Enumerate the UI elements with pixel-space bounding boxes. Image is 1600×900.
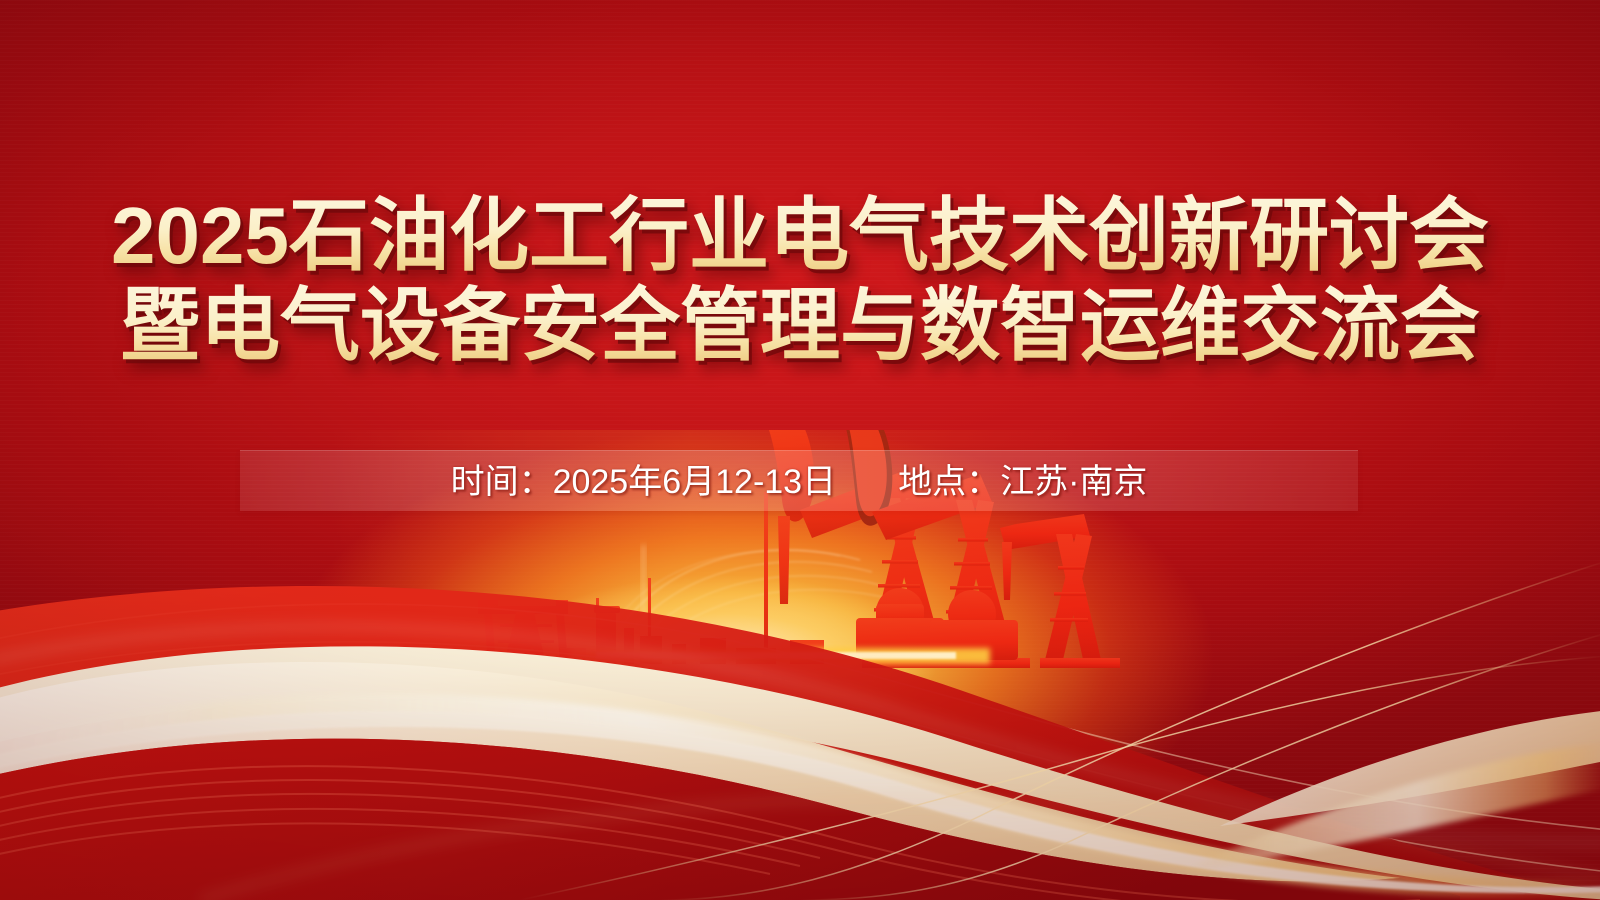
event-location: 地点：江苏·南京 xyxy=(898,465,1147,499)
event-date: 时间：2025年6月12-13日 xyxy=(451,465,837,499)
banner-title: 2025石油化工行业电气技术创新研讨会 暨电气设备安全管理与数智运维交流会 xyxy=(0,192,1600,370)
event-info-band: 时间：2025年6月12-13日 地点：江苏·南京 xyxy=(240,450,1358,511)
conference-banner: 2025石油化工行业电气技术创新研讨会 暨电气设备安全管理与数智运维交流会 时间… xyxy=(0,0,1600,900)
title-line-2: 暨电气设备安全管理与数智运维交流会 xyxy=(0,282,1600,370)
title-line-1: 2025石油化工行业电气技术创新研讨会 xyxy=(0,192,1600,280)
